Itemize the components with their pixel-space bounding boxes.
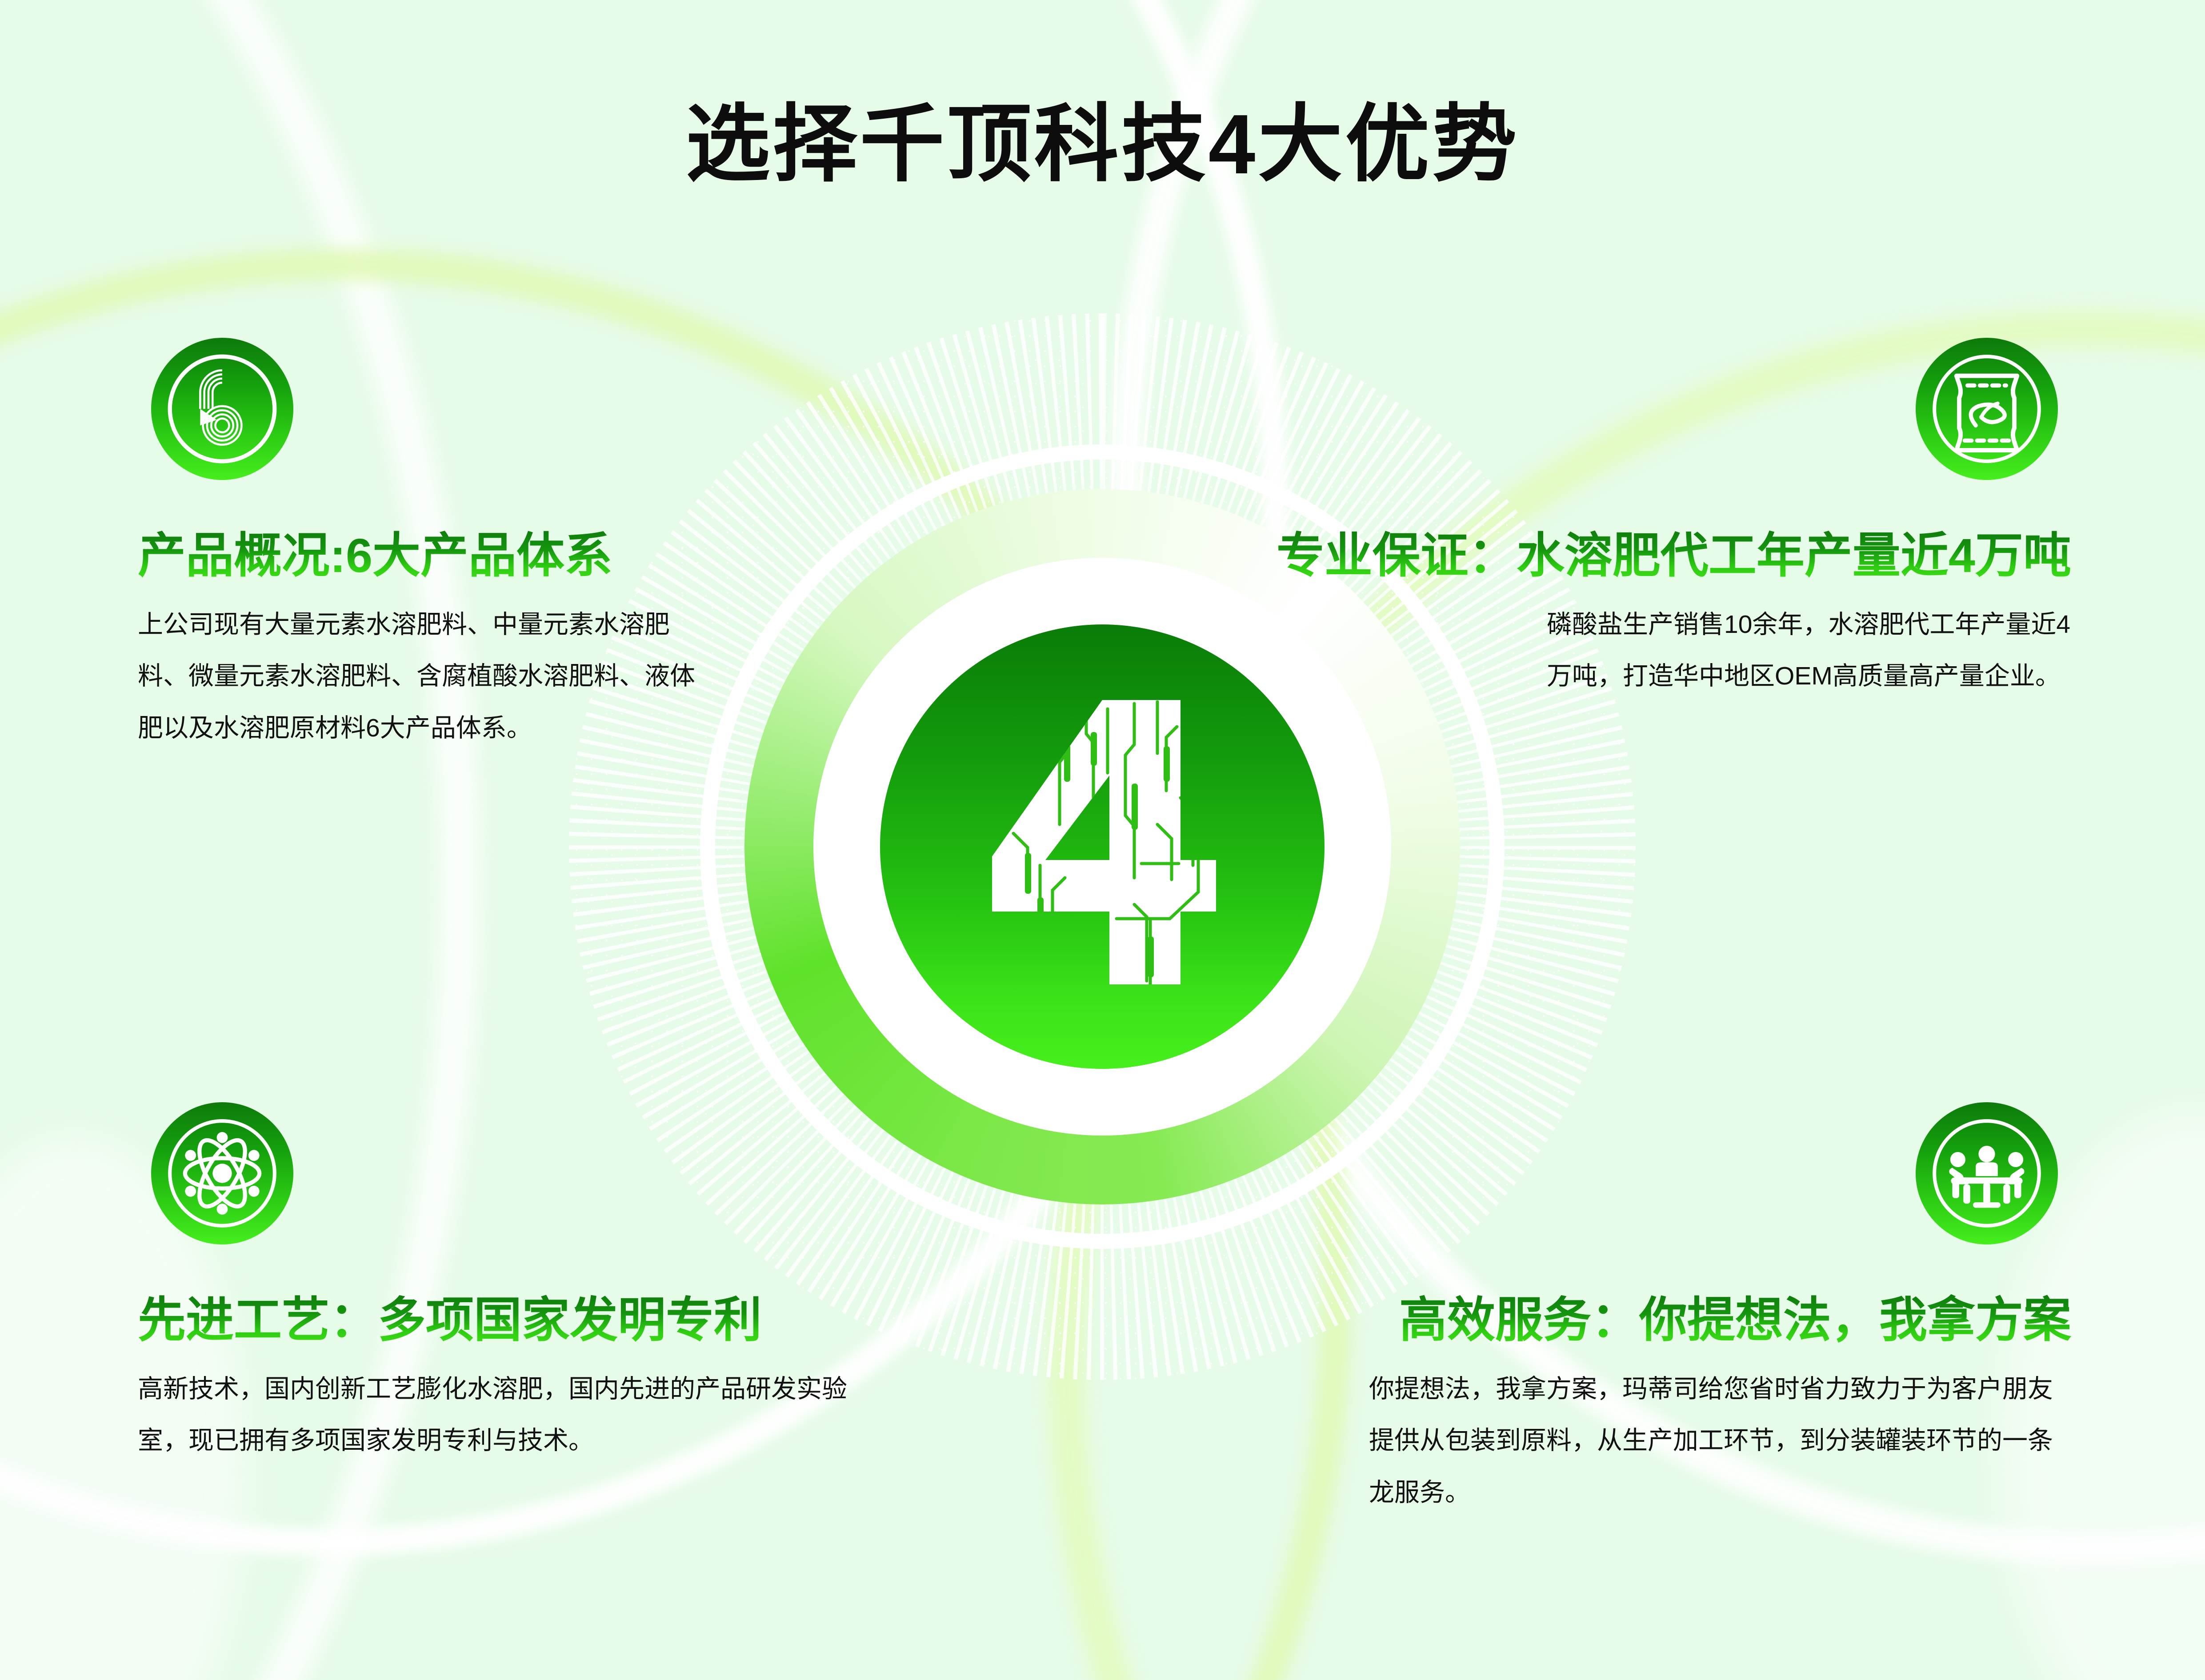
atom-icon <box>151 1102 293 1244</box>
fertilizer-bag-icon <box>1916 338 2058 480</box>
feature-heading: 高效服务：你提想法，我拿方案 <box>1399 1294 2071 1346</box>
feature-heading: 产品概况:6大产品体系 <box>138 530 751 582</box>
atom-glyph <box>153 1104 291 1242</box>
feature-block-efficient-service: 高效服务：你提想法，我拿方案 你提想法，我拿方案，玛蒂司给您省时省力致力于为客户… <box>1311 1102 2071 1519</box>
infographic-canvas: 选择千顶科技4大优势 产品概况:6大产品体系 上公司现有大量元素水溶肥料、 <box>0 0 2205 1680</box>
meeting-people-icon <box>1916 1102 2058 1244</box>
meeting-people-glyph <box>1918 1104 2056 1242</box>
feature-heading: 专业保证：水溶肥代工年产量近4万吨 <box>1277 530 2071 582</box>
feature-body: 磷酸盐生产销售10余年，水溶肥代工年产量近4万吨，打造华中地区OEM高质量高产量… <box>1547 599 2071 703</box>
number-four-circuit-icon <box>960 691 1245 1002</box>
feature-body: 高新技术，国内创新工艺膨化水溶肥，国内先进的产品研发实验室，现已拥有多项国家发明… <box>138 1363 876 1467</box>
fertilizer-bag-glyph <box>1918 340 2056 478</box>
number-six-badge-icon <box>151 338 293 480</box>
feature-block-product-overview: 产品概况:6大产品体系 上公司现有大量元素水溶肥料、中量元素水溶肥料、微量元素水… <box>138 338 751 754</box>
page-title: 选择千顶科技4大优势 <box>0 102 2205 187</box>
feature-block-professional-guarantee: 专业保证：水溶肥代工年产量近4万吨 磷酸盐生产销售10余年，水溶肥代工年产量近4… <box>1191 338 2071 702</box>
feature-block-advanced-process: 先进工艺：多项国家发明专利 高新技术，国内创新工艺膨化水溶肥，国内先进的产品研发… <box>138 1102 938 1467</box>
feature-heading: 先进工艺：多项国家发明专利 <box>138 1294 938 1346</box>
number-six-glyph <box>153 340 291 478</box>
feature-body: 上公司现有大量元素水溶肥料、中量元素水溶肥料、微量元素水溶肥料、含腐植酸水溶肥料… <box>138 599 716 755</box>
feature-body: 你提想法，我拿方案，玛蒂司给您省时省力致力于为客户朋友提供从包装到原料，从生产加… <box>1369 1363 2071 1519</box>
